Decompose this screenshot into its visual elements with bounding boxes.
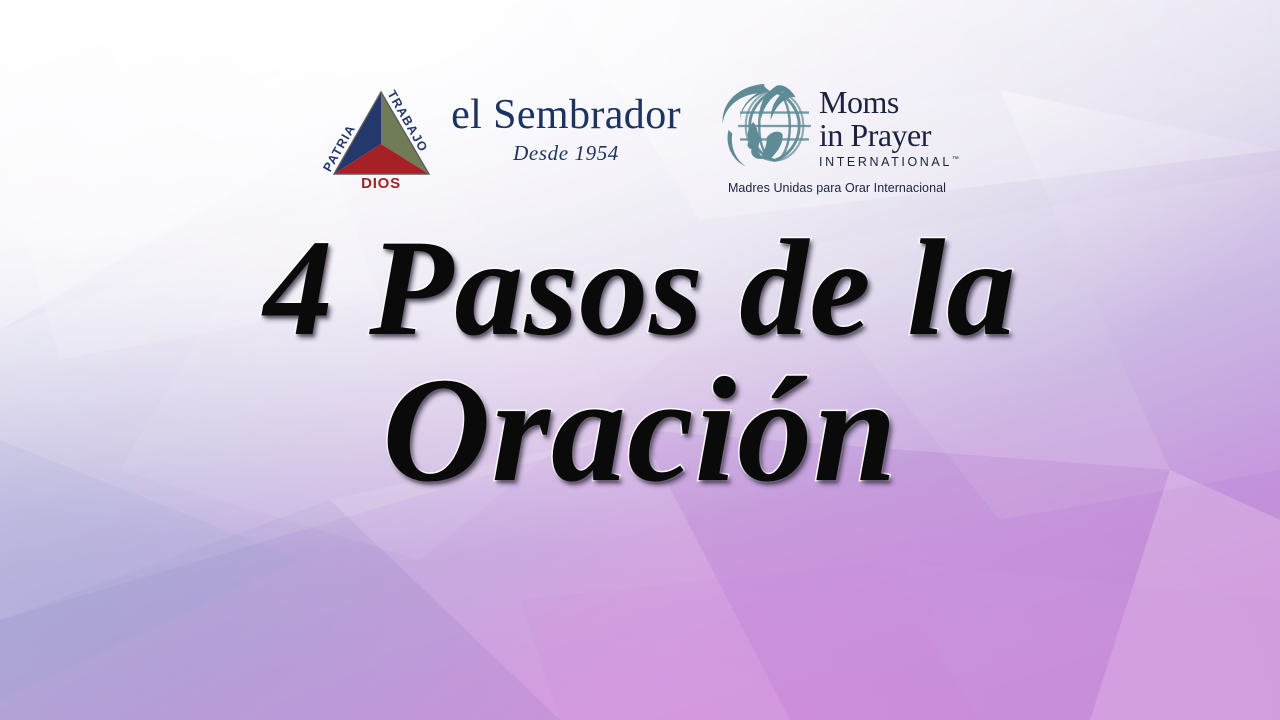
sembrador-wordmark: el Sembrador Desde 1954 [451,78,681,166]
sembrador-tagline: Desde 1954 [513,141,619,166]
mip-international-text: INTERNATIONAL [819,155,952,169]
title-line-1: 4 Pasos de la [0,222,1280,354]
logo-band: PATRIA TRABAJO DIOS el Sembrador Desde 1… [0,78,1280,206]
mip-name-line-1: Moms [819,87,899,118]
trademark-icon: ™ [952,156,959,163]
slide-canvas: PATRIA TRABAJO DIOS el Sembrador Desde 1… [0,0,1280,720]
logo-moms-in-prayer: Moms in Prayer INTERNATIONAL™ Madres Uni… [715,78,959,195]
praying-woman-globe-icon [715,80,811,172]
mip-name-line-2: in Prayer [819,120,931,151]
title-line-2: Oración [0,358,1280,502]
sembrador-name: el Sembrador [451,94,681,136]
sembrador-triangle-icon: PATRIA TRABAJO DIOS [321,78,441,190]
logo-el-sembrador: PATRIA TRABAJO DIOS el Sembrador Desde 1… [321,78,681,190]
mip-international-label: INTERNATIONAL™ [819,155,959,169]
svg-text:DIOS: DIOS [361,175,401,190]
slide-title: 4 Pasos de la Oración [0,222,1280,502]
mip-spanish-tagline: Madres Unidas para Orar Internacional [728,181,946,195]
